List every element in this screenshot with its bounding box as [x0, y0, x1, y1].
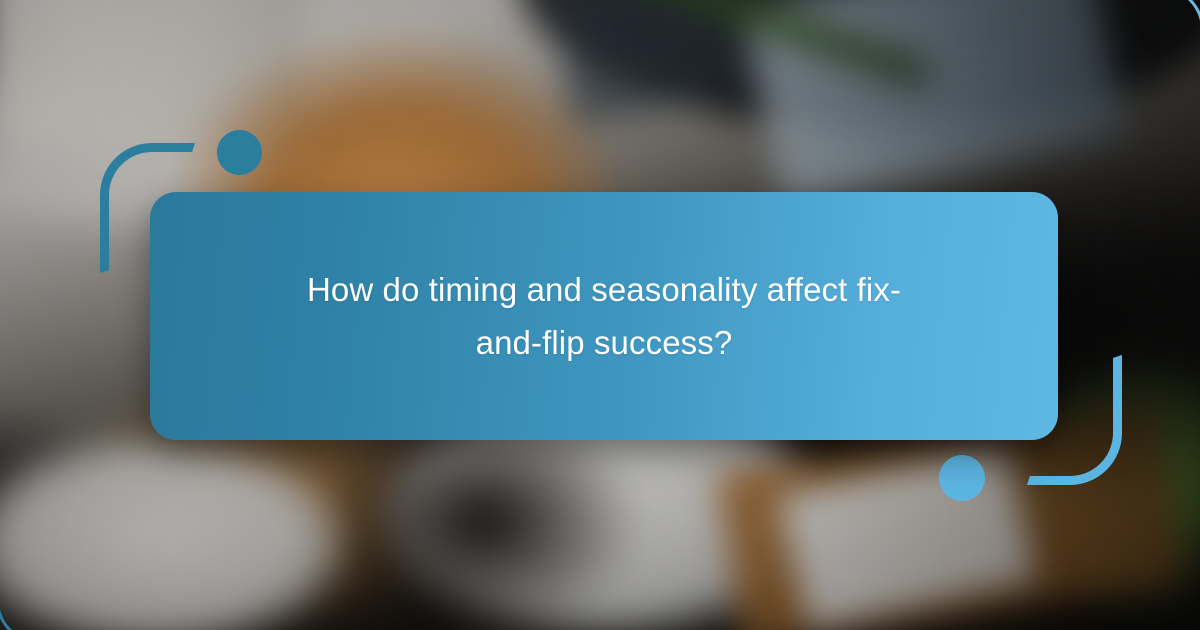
frame-line-inner	[1074, 0, 1200, 82]
frame-line-inner	[0, 548, 126, 630]
corner-frame-top-right	[980, 0, 1200, 130]
decorative-dot-bottom-right	[939, 455, 985, 501]
question-card-graphic: How do timing and seasonality affect fix…	[0, 0, 1200, 630]
question-card: How do timing and seasonality affect fix…	[150, 192, 1058, 440]
corner-frame-bottom-left	[0, 500, 220, 630]
decorative-dot-top-left	[217, 130, 262, 175]
question-text: How do timing and seasonality affect fix…	[284, 263, 924, 370]
